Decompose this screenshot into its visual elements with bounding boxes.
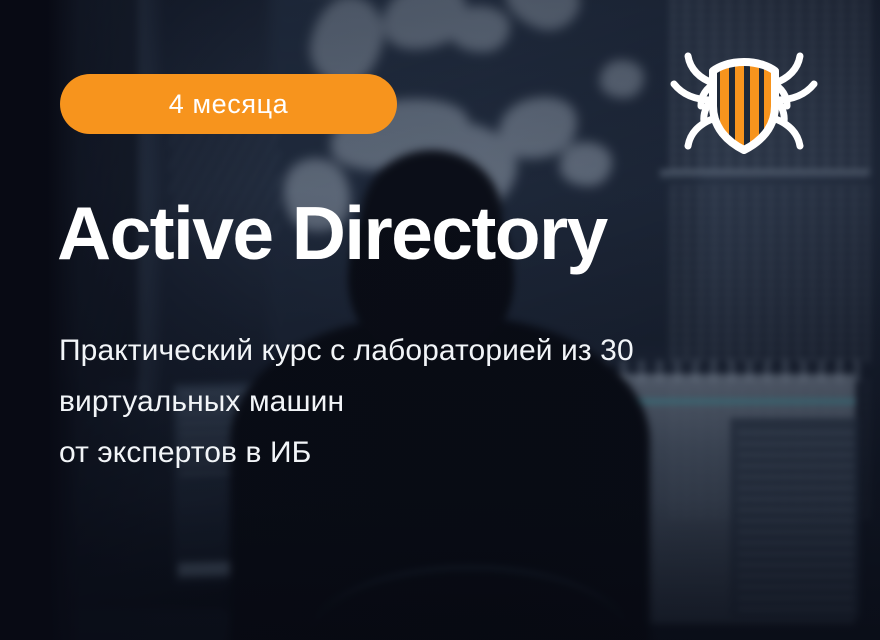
subtitle-line-3: от экспертов в ИБ: [59, 427, 789, 478]
subtitle: Практический курс с лабораторией из 30 в…: [59, 325, 789, 478]
duration-badge-label: 4 месяца: [169, 91, 289, 118]
banner-content: 4 месяца Active Directory Практический к…: [0, 0, 880, 640]
promo-banner: 4 месяца Active Directory Практический к…: [0, 0, 880, 640]
page-title: Active Directory: [57, 196, 607, 271]
subtitle-line-1: Практический курс с лабораторией из 30: [59, 325, 789, 376]
spider-shield-logo: [668, 48, 820, 160]
subtitle-line-2: виртуальных машин: [59, 376, 789, 427]
duration-badge: 4 месяца: [60, 74, 397, 134]
